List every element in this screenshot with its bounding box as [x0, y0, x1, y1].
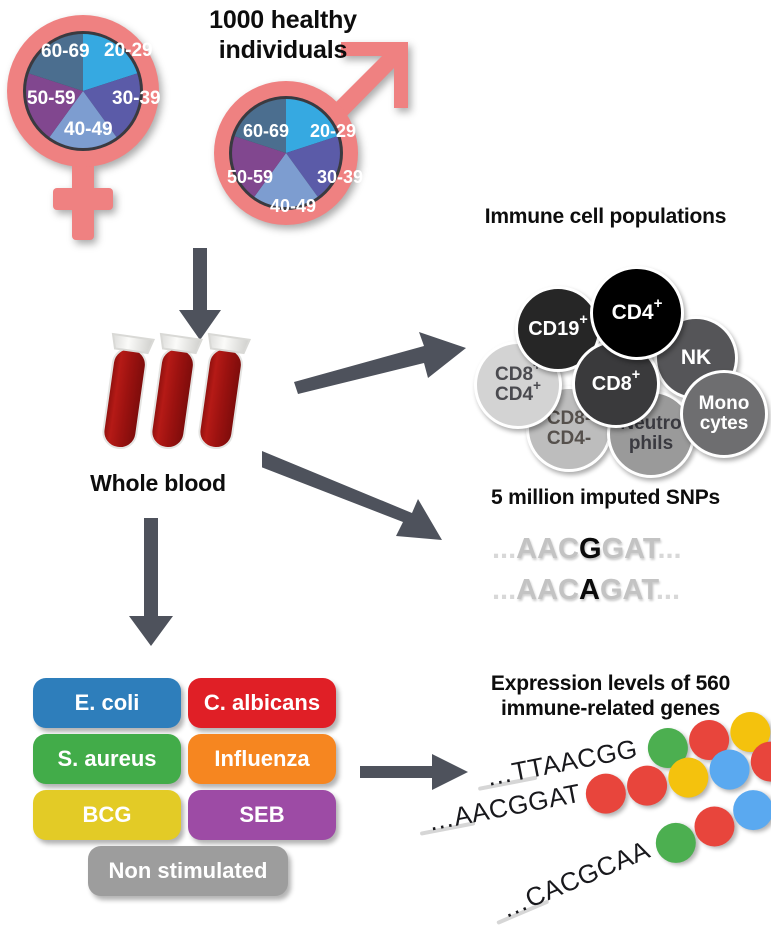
blood-tube — [145, 334, 201, 451]
snp-sequence-row: ...AACAGAT... — [492, 574, 680, 607]
section-title-immune-cells: Immune cell populations — [440, 205, 771, 230]
male-age-pie — [232, 99, 340, 207]
section-title-expression: Expression levels of 560 immune-related … — [450, 672, 771, 722]
arrow-blood-to-stimuli — [122, 518, 182, 648]
snp-variant: G — [579, 533, 602, 565]
gene-bead — [582, 770, 629, 817]
male-symbol — [196, 40, 426, 245]
gene-bead — [624, 762, 671, 809]
blood-tube — [97, 334, 153, 451]
snp-after: GAT — [602, 533, 658, 565]
snp-before: AAC — [516, 574, 579, 606]
immune-cell-cd4: CD4+ — [590, 266, 684, 360]
label-whole-blood: Whole blood — [48, 470, 268, 497]
stimulus-non-stimulated[interactable]: Non stimulated — [88, 846, 288, 896]
diagram-canvas: 20-29 30-39 40-49 50-59 60-69 20-29 30-3… — [0, 0, 771, 922]
arrow-stimuli-to-expression — [360, 752, 470, 794]
stimulus-seb[interactable]: SEB — [188, 790, 336, 840]
snp-sequence-row: ...AACGGAT... — [492, 533, 682, 566]
female-age-pie — [26, 34, 140, 148]
immune-cell-label: Monocytes — [699, 394, 750, 434]
immune-cell-cluster: CD19+ CD4+ CD8+CD4+ CD8+ NK CD8-CD4- Neu… — [474, 238, 771, 438]
immune-cell-label: CD8+ — [592, 374, 640, 395]
strand-sequence: …CACGCAA — [496, 834, 654, 924]
blood-tube — [193, 334, 249, 451]
female-symbol — [6, 8, 181, 248]
immune-cell-label: CD4+ — [612, 302, 663, 324]
snp-before: AAC — [516, 533, 579, 565]
stimulus-s-aureus[interactable]: S. aureus — [33, 734, 181, 784]
stimulus-c-albicans[interactable]: C. albicans — [188, 678, 336, 728]
arrow-blood-to-immune — [292, 332, 468, 394]
snp-suffix: ... — [657, 533, 681, 565]
section-title-snps: 5 million imputed SNPs — [440, 486, 771, 511]
stimulus-influenza[interactable]: Influenza — [188, 734, 336, 784]
snp-prefix: ... — [492, 574, 516, 606]
snp-suffix: ... — [656, 574, 680, 606]
immune-cell-monocytes: Monocytes — [680, 370, 768, 458]
snp-variant: A — [579, 574, 600, 606]
blood-tubes — [95, 328, 270, 468]
immune-cell-label: CD8+CD4+ — [495, 365, 541, 405]
immune-cell-label: NK — [681, 347, 711, 369]
snp-prefix: ... — [492, 533, 516, 565]
snp-after: GAT — [600, 574, 656, 606]
page-title-individuals: 1000 healthy individuals — [168, 6, 398, 65]
stimulus-e-coli[interactable]: E. coli — [33, 678, 181, 728]
immune-cell-label: CD19+ — [528, 319, 588, 340]
stimulus-bcg[interactable]: BCG — [33, 790, 181, 840]
arrow-blood-to-snps — [262, 443, 466, 543]
